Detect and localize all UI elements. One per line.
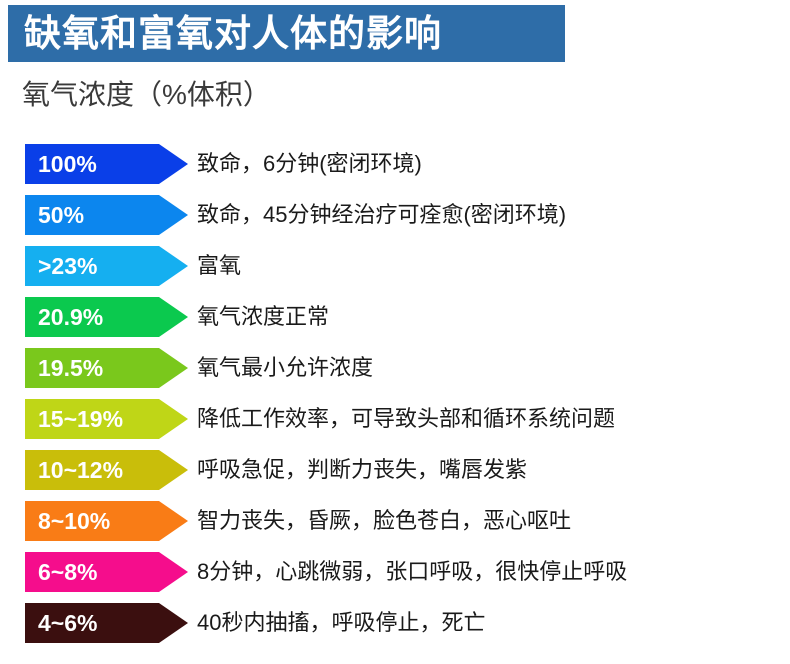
title-banner: 缺氧和富氧对人体的影响 — [8, 5, 565, 62]
concentration-arrow: 10~12% — [25, 450, 188, 490]
concentration-arrow: 4~6% — [25, 603, 188, 643]
oxygen-level-list: 100%致命，6分钟(密闭环境)50%致命，45分钟经治疗可痊愈(密闭环境)>2… — [0, 144, 790, 654]
concentration-label: 4~6% — [38, 612, 97, 635]
concentration-arrow: 19.5% — [25, 348, 188, 388]
concentration-label: 19.5% — [38, 357, 103, 380]
effect-description: 降低工作效率，可导致头部和循环系统问题 — [197, 399, 615, 439]
effect-description: 呼吸急促，判断力丧失，嘴唇发紫 — [197, 450, 527, 490]
concentration-label: 10~12% — [38, 459, 123, 482]
concentration-arrow: 20.9% — [25, 297, 188, 337]
oxygen-level-row: 19.5%氧气最小允许浓度 — [0, 348, 790, 399]
oxygen-level-row: 6~8%8分钟，心跳微弱，张口呼吸，很快停止呼吸 — [0, 552, 790, 603]
concentration-label: 8~10% — [38, 510, 110, 533]
concentration-label: >23% — [38, 255, 97, 278]
effect-description: 氧气浓度正常 — [197, 297, 329, 337]
page-title: 缺氧和富氧对人体的影响 — [24, 15, 442, 52]
oxygen-level-row: 15~19%降低工作效率，可导致头部和循环系统问题 — [0, 399, 790, 450]
concentration-label: 20.9% — [38, 306, 103, 329]
concentration-arrow: 6~8% — [25, 552, 188, 592]
effect-description: 40秒内抽搐，呼吸停止，死亡 — [197, 603, 485, 643]
oxygen-level-row: 4~6%40秒内抽搐，呼吸停止，死亡 — [0, 603, 790, 654]
effect-description: 智力丧失，昏厥，脸色苍白，恶心呕吐 — [197, 501, 571, 541]
subtitle-label: 氧气浓度（%体积） — [22, 76, 271, 114]
concentration-arrow: 100% — [25, 144, 188, 184]
concentration-arrow: 50% — [25, 195, 188, 235]
effect-description: 氧气最小允许浓度 — [197, 348, 373, 388]
oxygen-level-row: >23%富氧 — [0, 246, 790, 297]
concentration-label: 50% — [38, 204, 84, 227]
effect-description: 8分钟，心跳微弱，张口呼吸，很快停止呼吸 — [197, 552, 627, 592]
effect-description: 致命，45分钟经治疗可痊愈(密闭环境) — [197, 195, 566, 235]
oxygen-level-row: 20.9%氧气浓度正常 — [0, 297, 790, 348]
concentration-arrow: 15~19% — [25, 399, 188, 439]
oxygen-level-row: 100%致命，6分钟(密闭环境) — [0, 144, 790, 195]
effect-description: 致命，6分钟(密闭环境) — [197, 144, 422, 184]
concentration-arrow: 8~10% — [25, 501, 188, 541]
oxygen-level-row: 50%致命，45分钟经治疗可痊愈(密闭环境) — [0, 195, 790, 246]
concentration-label: 15~19% — [38, 408, 123, 431]
concentration-arrow: >23% — [25, 246, 188, 286]
oxygen-level-row: 8~10%智力丧失，昏厥，脸色苍白，恶心呕吐 — [0, 501, 790, 552]
oxygen-level-row: 10~12%呼吸急促，判断力丧失，嘴唇发紫 — [0, 450, 790, 501]
concentration-label: 6~8% — [38, 561, 97, 584]
effect-description: 富氧 — [197, 246, 241, 286]
concentration-label: 100% — [38, 153, 97, 176]
